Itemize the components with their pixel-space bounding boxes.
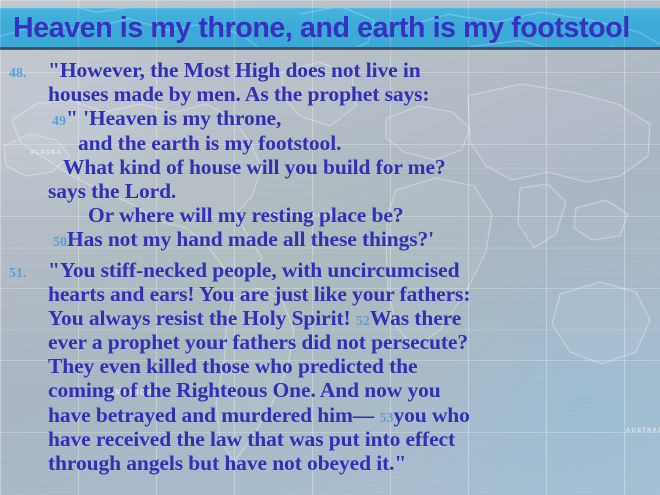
scripture-line-text: Or where will my resting place be? [88,203,403,227]
scripture-line: and the earth is my footstool. [0,131,660,155]
scripture-line-text: "You stiff-necked people, with uncircumc… [48,258,459,282]
scripture-line: 50Has not my hand made all these things?… [0,227,660,251]
scripture-line-text: "However, the Most High does not live in [48,58,421,82]
scripture-line-text: coming of the Righteous One. And now you [48,378,441,402]
scripture-line-text: through angels but have not obeyed it." [48,451,406,475]
scripture-line: You always resist the Holy Spirit! 52Was… [0,306,660,330]
scripture-line-text-tail: Was there [370,306,461,330]
verse-number-53: 53 [379,411,393,426]
scripture-line-text: and the earth is my footstool. [78,131,341,155]
scripture-line-text: You always resist the Holy Spirit! [48,306,356,330]
scripture-line: What kind of house will you build for me… [0,155,660,179]
slide-title: Heaven is my throne, and earth is my foo… [13,10,630,46]
scripture-line-text: ever a prophet your fathers did not pers… [48,330,468,354]
scripture-line-text: says the Lord. [48,179,176,203]
presentation-slide: ALASKA AMERICA NEWFOUNDLAND AUSTRALIA He… [0,0,660,495]
scripture-line-text: have betrayed and murdered him— [48,403,379,427]
scripture-line: says the Lord. [0,179,660,203]
scripture-line-text: hearts and ears! You are just like your … [48,282,470,306]
scripture-line-text: They even killed those who predicted the [48,354,417,378]
title-banner: Heaven is my throne, and earth is my foo… [0,8,660,47]
scripture-line: They even killed those who predicted the [0,354,660,378]
scripture-line: through angels but have not obeyed it." [0,451,660,475]
verse-number-49: 49 [52,114,66,129]
scripture-line-text: " 'Heaven is my throne, [66,106,281,130]
scripture-line-text: Has not my hand made all these things?' [67,227,434,251]
scripture-line-text: have received the law that was put into … [48,427,455,451]
scripture-line-text: houses made by men. As the prophet says: [48,82,429,106]
title-divider-rule [0,47,660,50]
verse-number-50: 50 [53,235,67,250]
scripture-line: have betrayed and murdered him— 53you wh… [0,403,660,427]
scripture-line: ever a prophet your fathers did not pers… [0,330,660,354]
scripture-line: Or where will my resting place be? [0,203,660,227]
scripture-body: 48."However, the Most High does not live… [0,58,660,475]
scripture-line-text-tail: you who [393,403,469,427]
verse-number-51: 51. [0,262,48,286]
verse-number-52: 52 [356,314,370,329]
scripture-line: 49" 'Heaven is my throne, [0,106,660,130]
scripture-line: 48."However, the Most High does not live… [0,58,660,82]
scripture-line: coming of the Righteous One. And now you [0,378,660,402]
scripture-line: have received the law that was put into … [0,427,660,451]
verse-number-48: 48. [0,62,48,86]
scripture-line: 51."You stiff-necked people, with uncirc… [0,258,660,282]
scripture-line-text: What kind of house will you build for me… [63,155,446,179]
scripture-line: houses made by men. As the prophet says: [0,82,660,106]
scripture-line: hearts and ears! You are just like your … [0,282,660,306]
